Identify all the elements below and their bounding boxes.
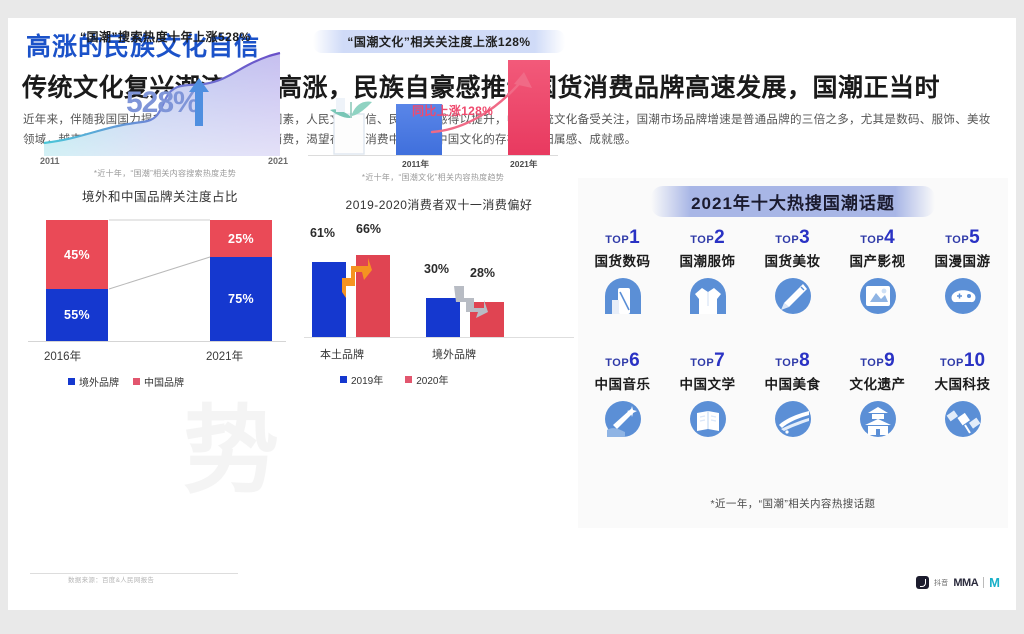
rank-prefix: TOP <box>605 234 629 246</box>
rank-number: 2 <box>714 227 725 248</box>
rank-number: 7 <box>714 350 725 371</box>
up-arrow-icon <box>188 78 210 126</box>
chart-note: *近十年，“国潮文化”相关内容热度趋势 <box>318 172 548 183</box>
legend-label-2020: 2020年 <box>416 372 448 387</box>
top-label-10: 大国科技 <box>920 373 1005 393</box>
rank-prefix: TOP <box>690 234 714 246</box>
segment-overseas-2021: 75% <box>210 257 272 341</box>
top-topics-grid: TOP1 国货数码 TOP2 国潮服饰 <box>580 228 1006 444</box>
trend-down-arrow-icon <box>452 284 488 318</box>
rank-number: 10 <box>964 350 985 371</box>
footer-source: 数据来源：百度&人民网报告 <box>68 574 154 584</box>
top-rank-10: TOP10 <box>920 351 1005 370</box>
top-label-4: 国产影视 <box>835 250 920 270</box>
rank-prefix: TOP <box>775 234 799 246</box>
top-rank-8: TOP8 <box>750 351 835 370</box>
top-rank-6: TOP6 <box>580 351 665 370</box>
top-rank-2: TOP2 <box>665 228 750 247</box>
film-icon <box>858 276 898 316</box>
top-label-6: 中国音乐 <box>580 373 665 393</box>
top-rank-9: TOP9 <box>835 351 920 370</box>
top-item-10[interactable]: TOP10 大国科技 <box>920 351 1005 444</box>
top-label-8: 中国美食 <box>750 373 835 393</box>
top-topics-panel: 2021年十大热搜国潮话题 TOP1 国货数码 <box>578 178 1008 528</box>
rank-prefix: TOP <box>605 357 629 369</box>
x-axis-line <box>304 337 574 338</box>
trend-up-arrow-icon <box>338 258 372 298</box>
gamepad-icon <box>943 276 983 316</box>
bar-plot: 同比上涨128% <box>308 56 558 156</box>
panel-note: *近一年，“国潮”相关内容热搜话题 <box>603 496 983 511</box>
legend-label-2019: 2019年 <box>351 372 383 387</box>
panel-title: 2021年十大热搜国潮话题 <box>651 186 935 217</box>
top-label-5: 国漫国游 <box>920 250 1005 270</box>
top-rank-1: TOP1 <box>580 228 665 247</box>
top-topics-row-2: TOP6 中国音乐 TOP7 中国文学 <box>580 351 1006 444</box>
clothing-icon <box>688 276 728 316</box>
slide-canvas: 势 高涨的民族文化自信 传统文化复兴潮流持续高涨，民族自豪感推动国货消费品牌高速… <box>8 18 1016 610</box>
m-logo-label: M <box>989 576 1000 589</box>
top-rank-5: TOP5 <box>920 228 1005 247</box>
chart-double-eleven-preference: 2019-2020消费者双十一消费偏好 61% 66% 30% 28% 本土品牌… <box>304 196 574 391</box>
x-tick-local-brand: 本土品牌 <box>320 346 364 362</box>
rank-number: 4 <box>884 227 895 248</box>
x-tick-2016: 2016年 <box>44 348 81 364</box>
chart-title: 境外和中国品牌关注度占比 <box>24 186 296 205</box>
x-tick-overseas-brand: 境外品牌 <box>432 346 476 362</box>
legend-swatch-2020 <box>405 376 412 383</box>
rank-prefix: TOP <box>775 357 799 369</box>
rank-prefix: TOP <box>860 234 884 246</box>
top-item-8[interactable]: TOP8 中国美食 <box>750 351 835 444</box>
x-tick-start: 2011 <box>40 156 60 166</box>
top-item-4[interactable]: TOP4 国产影视 <box>835 228 920 321</box>
annotation-growth: 同比上涨128% <box>412 102 493 119</box>
value-label-local-2019: 61% <box>310 226 335 240</box>
top-rank-7: TOP7 <box>665 351 750 370</box>
top-rank-3: TOP3 <box>750 228 835 247</box>
panel-title-wrap: 2021年十大热搜国潮话题 <box>603 186 983 217</box>
x-axis-line <box>308 155 558 156</box>
legend-item-china: 中国品牌 <box>133 374 184 389</box>
douyin-logo-label: 抖音 <box>934 578 948 588</box>
top-item-6[interactable]: TOP6 中国音乐 <box>580 351 665 444</box>
top-item-7[interactable]: TOP7 中国文学 <box>665 351 750 444</box>
chart-title: 2019-2020消费者双十一消费偏好 <box>304 196 574 213</box>
top-label-1: 国货数码 <box>580 250 665 270</box>
chart-legend: 2019年 2020年 <box>340 372 449 387</box>
legend-item-2019: 2019年 <box>340 372 383 387</box>
legend-swatch-china <box>133 378 140 385</box>
legend-swatch-overseas <box>68 378 75 385</box>
top-item-5[interactable]: TOP5 国漫国游 <box>920 228 1005 321</box>
rank-prefix: TOP <box>860 357 884 369</box>
stacked-bar-2021: 25% 75% <box>210 220 272 341</box>
legend-item-overseas: 境外品牌 <box>68 374 119 389</box>
rank-number: 1 <box>629 227 640 248</box>
x-tick-end: 2021 <box>268 156 288 166</box>
top-item-9[interactable]: TOP9 文化遗产 <box>835 351 920 444</box>
rank-number: 8 <box>799 350 810 371</box>
rank-prefix: TOP <box>940 357 964 369</box>
top-label-9: 文化遗产 <box>835 373 920 393</box>
chart-note: *近十年，“国潮”相关内容搜索热度走势 <box>60 168 270 179</box>
footer-logos: 抖音 MMA M <box>916 576 1000 589</box>
chart-legend: 境外品牌 中国品牌 <box>68 374 184 389</box>
legend-label-overseas: 境外品牌 <box>79 374 119 389</box>
top-label-3: 国货美妆 <box>750 250 835 270</box>
satellite-icon <box>943 399 983 439</box>
mma-logo-label: MMA <box>953 577 978 589</box>
top-item-3[interactable]: TOP3 国货美妆 <box>750 228 835 321</box>
noodles-icon <box>773 399 813 439</box>
chart-search-heat-trend: “国潮”搜索热度十年上涨528% <box>30 28 292 183</box>
top-label-2: 国潮服饰 <box>665 250 750 270</box>
rank-number: 6 <box>629 350 640 371</box>
top-rank-4: TOP4 <box>835 228 920 247</box>
segment-china-2016: 45% <box>46 220 108 289</box>
grouped-bar-plot: 61% 66% 30% 28% <box>304 222 574 338</box>
smartphone-icon <box>603 276 643 316</box>
x-axis-line <box>28 341 286 342</box>
value-label-overseas-2020: 28% <box>470 266 495 280</box>
area-plot: 528% <box>38 50 284 156</box>
lipstick-icon <box>773 276 813 316</box>
temple-icon <box>858 399 898 439</box>
x-tick-2021: 2021年 <box>510 158 537 170</box>
chart-title: “国潮文化”相关关注度上涨128% <box>313 30 565 53</box>
stacked-bar-2016: 45% 55% <box>46 220 108 341</box>
douyin-logo-icon <box>916 576 929 589</box>
legend-label-china: 中国品牌 <box>144 374 184 389</box>
rank-number: 3 <box>799 227 810 248</box>
stacked-bar-plot: 45% 55% 25% 75% <box>24 214 296 342</box>
rank-number: 5 <box>969 227 980 248</box>
rank-prefix: TOP <box>945 234 969 246</box>
plant-illustration-icon <box>320 92 382 156</box>
value-label-overseas-2019: 30% <box>424 262 449 276</box>
chart-culture-attention: “国潮文化”相关关注度上涨128% 同比上涨128% 2011年 2021年 *… <box>308 30 558 185</box>
rank-number: 9 <box>884 350 895 371</box>
top-label-7: 中国文学 <box>665 373 750 393</box>
value-label-local-2020: 66% <box>356 222 381 236</box>
rank-prefix: TOP <box>690 357 714 369</box>
music-icon <box>603 399 643 439</box>
x-tick-2021: 2021年 <box>206 348 243 364</box>
chart-brand-attention-share: 境外和中国品牌关注度占比 45% 55% 25% 75% 2016年 2021年… <box>24 186 296 391</box>
x-tick-2011: 2011年 <box>402 158 429 170</box>
chart-title: “国潮”搜索热度十年上涨528% <box>80 28 250 45</box>
top-item-1[interactable]: TOP1 国货数码 <box>580 228 665 321</box>
book-icon <box>688 399 728 439</box>
watermark: 势 <box>183 373 279 512</box>
legend-item-2020: 2020年 <box>405 372 448 387</box>
legend-swatch-2019 <box>340 376 347 383</box>
logo-divider <box>983 577 984 588</box>
top-item-2[interactable]: TOP2 国潮服饰 <box>665 228 750 321</box>
top-topics-row-1: TOP1 国货数码 TOP2 国潮服饰 <box>580 228 1006 321</box>
segment-overseas-2016: 55% <box>46 289 108 341</box>
segment-china-2021: 25% <box>210 220 272 257</box>
